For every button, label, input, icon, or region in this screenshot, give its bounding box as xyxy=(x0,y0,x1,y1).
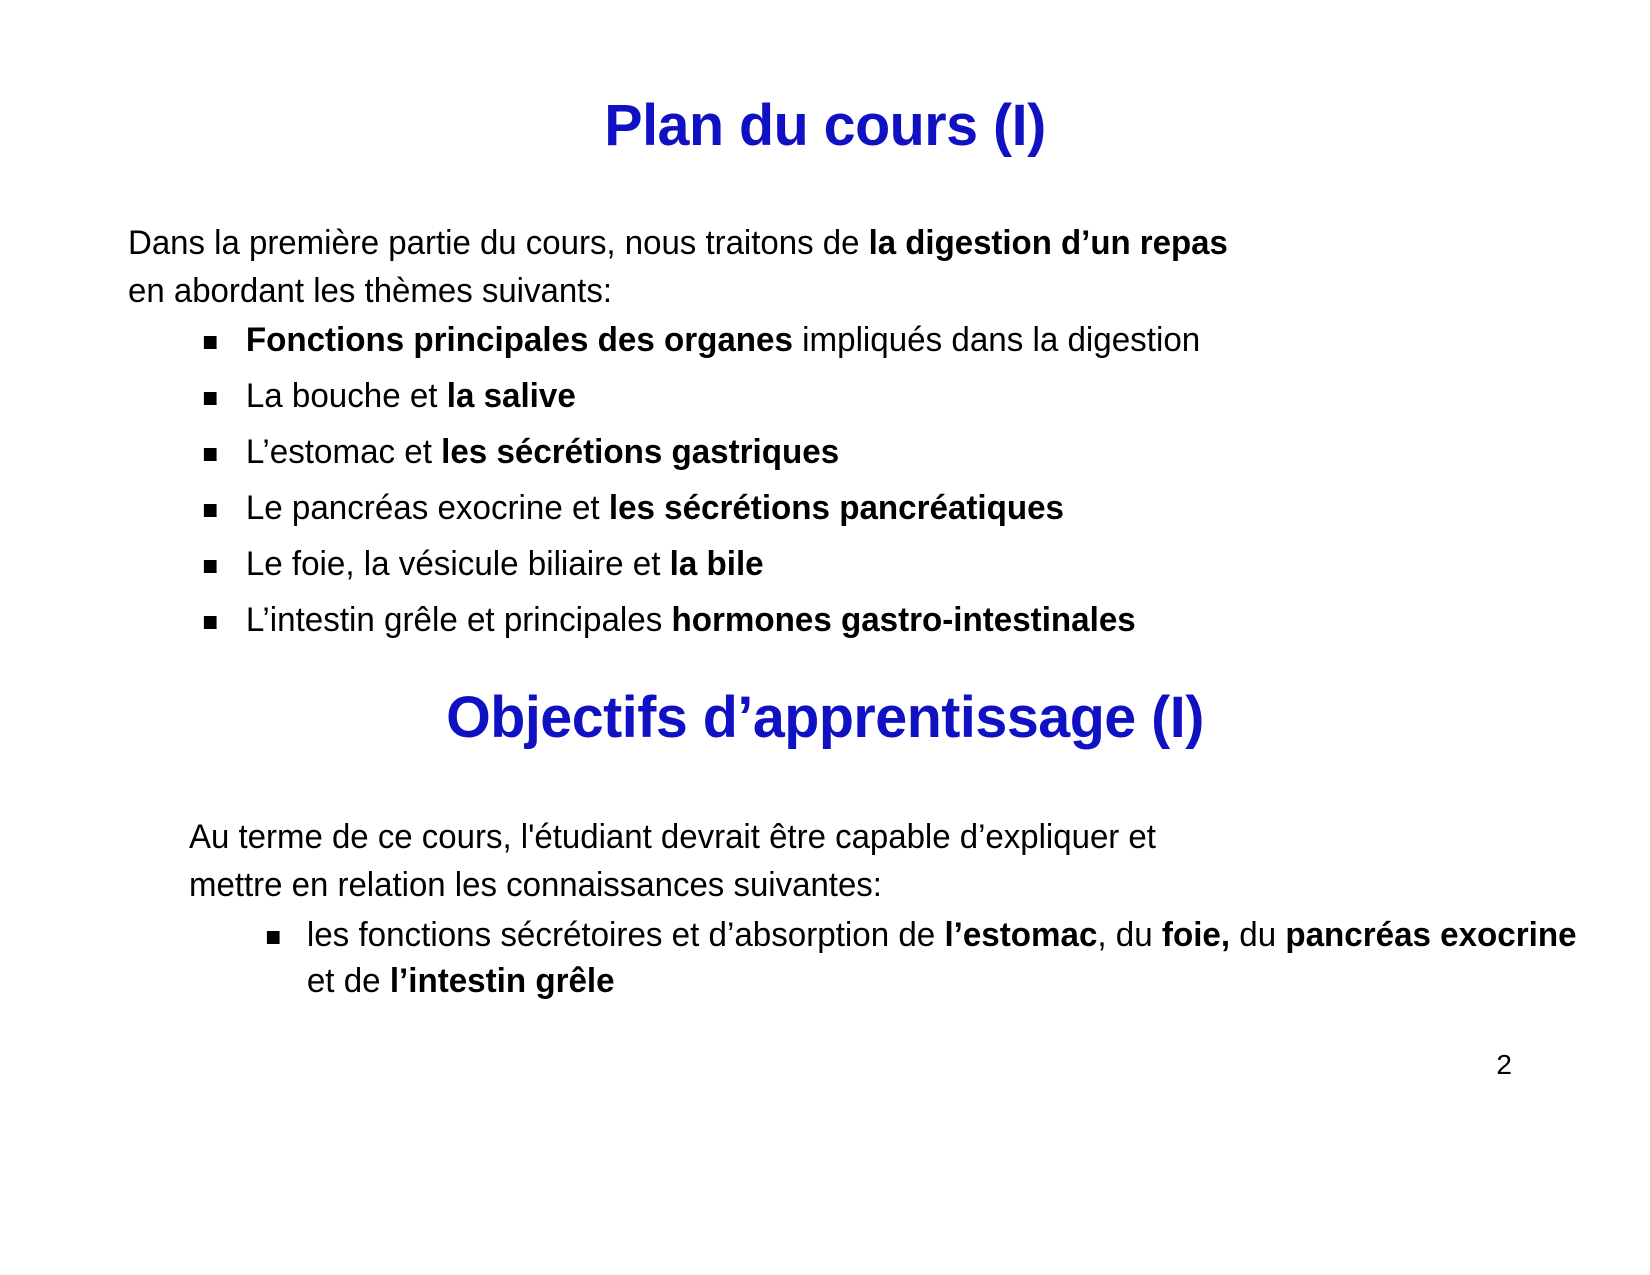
page-title-plan: Plan du cours (I) xyxy=(8,92,1642,159)
list-item-text: L’intestin grêle et principales xyxy=(246,601,672,639)
square-bullet-icon xyxy=(204,336,217,349)
list-item: La bouche et la salive xyxy=(200,374,1585,418)
objectifs-bullet-list: les fonctions sécrétoires et d’absorptio… xyxy=(263,912,1623,1016)
plan-intro-paragraph: Dans la première partie du cours, nous t… xyxy=(128,219,1447,315)
plan-intro-line-1: Dans la première partie du cours, nous t… xyxy=(128,219,1447,267)
list-item-text: L’estomac et xyxy=(246,433,441,471)
list-item-text-2: , du xyxy=(1097,916,1162,954)
list-item-bold: hormones gastro-intestinales xyxy=(672,601,1136,639)
list-item-text: impliqués dans la digestion xyxy=(793,321,1200,359)
square-bullet-icon xyxy=(204,448,217,461)
list-item-bold: les sécrétions gastriques xyxy=(441,433,839,471)
objectifs-intro-line-2: mettre en relation les connaissances sui… xyxy=(189,861,1450,909)
plan-bullet-list: Fonctions principales des organes impliq… xyxy=(200,318,1620,654)
list-item: L’intestin grêle et principales hormones… xyxy=(200,598,1585,642)
list-item-bold-3: pancréas exocrine xyxy=(1285,916,1576,954)
plan-intro-line-1-bold: la digestion d’un repas xyxy=(869,224,1228,262)
square-bullet-icon xyxy=(204,616,217,629)
page-number: 2 xyxy=(1496,1049,1512,1081)
objectifs-intro-line-1: Au terme de ce cours, l'étudiant devrait… xyxy=(189,813,1450,861)
list-item-bold-1: l’estomac xyxy=(944,916,1097,954)
page-title-objectifs: Objectifs d’apprentissage (I) xyxy=(8,684,1642,751)
square-bullet-icon xyxy=(267,931,280,944)
plan-intro-line-1-normal: Dans la première partie du cours, nous t… xyxy=(128,224,869,262)
list-item-text-4: et de xyxy=(307,962,390,1000)
list-item-bold-2: foie, xyxy=(1162,916,1230,954)
list-item: Fonctions principales des organes impliq… xyxy=(200,318,1585,362)
list-item-bold: la salive xyxy=(447,377,576,415)
list-item-text-3: du xyxy=(1230,916,1285,954)
list-item-text: Le foie, la vésicule biliaire et xyxy=(246,545,670,583)
square-bullet-icon xyxy=(204,560,217,573)
list-item: Le pancréas exocrine et les sécrétions p… xyxy=(200,486,1585,530)
list-item: Le foie, la vésicule biliaire et la bile xyxy=(200,542,1585,586)
list-item-text: La bouche et xyxy=(246,377,447,415)
list-item-bold: les sécrétions pancréatiques xyxy=(609,489,1064,527)
list-item-text-1: les fonctions sécrétoires et d’absorptio… xyxy=(307,916,945,954)
list-item-text: Le pancréas exocrine et xyxy=(246,489,609,527)
slide-canvas: Plan du cours (I) Dans la première parti… xyxy=(0,0,1650,1275)
list-item: les fonctions sécrétoires et d’absorptio… xyxy=(263,912,1589,1004)
list-item: L’estomac et les sécrétions gastriques xyxy=(200,430,1585,474)
list-item-bold: Fonctions principales des organes xyxy=(246,321,793,359)
square-bullet-icon xyxy=(204,392,217,405)
list-item-bold-4: l’intestin grêle xyxy=(390,962,615,1000)
square-bullet-icon xyxy=(204,504,217,517)
list-item-bold: la bile xyxy=(670,545,764,583)
objectifs-intro-paragraph: Au terme de ce cours, l'étudiant devrait… xyxy=(189,813,1450,909)
plan-intro-line-2: en abordant les thèmes suivants: xyxy=(128,267,1447,315)
